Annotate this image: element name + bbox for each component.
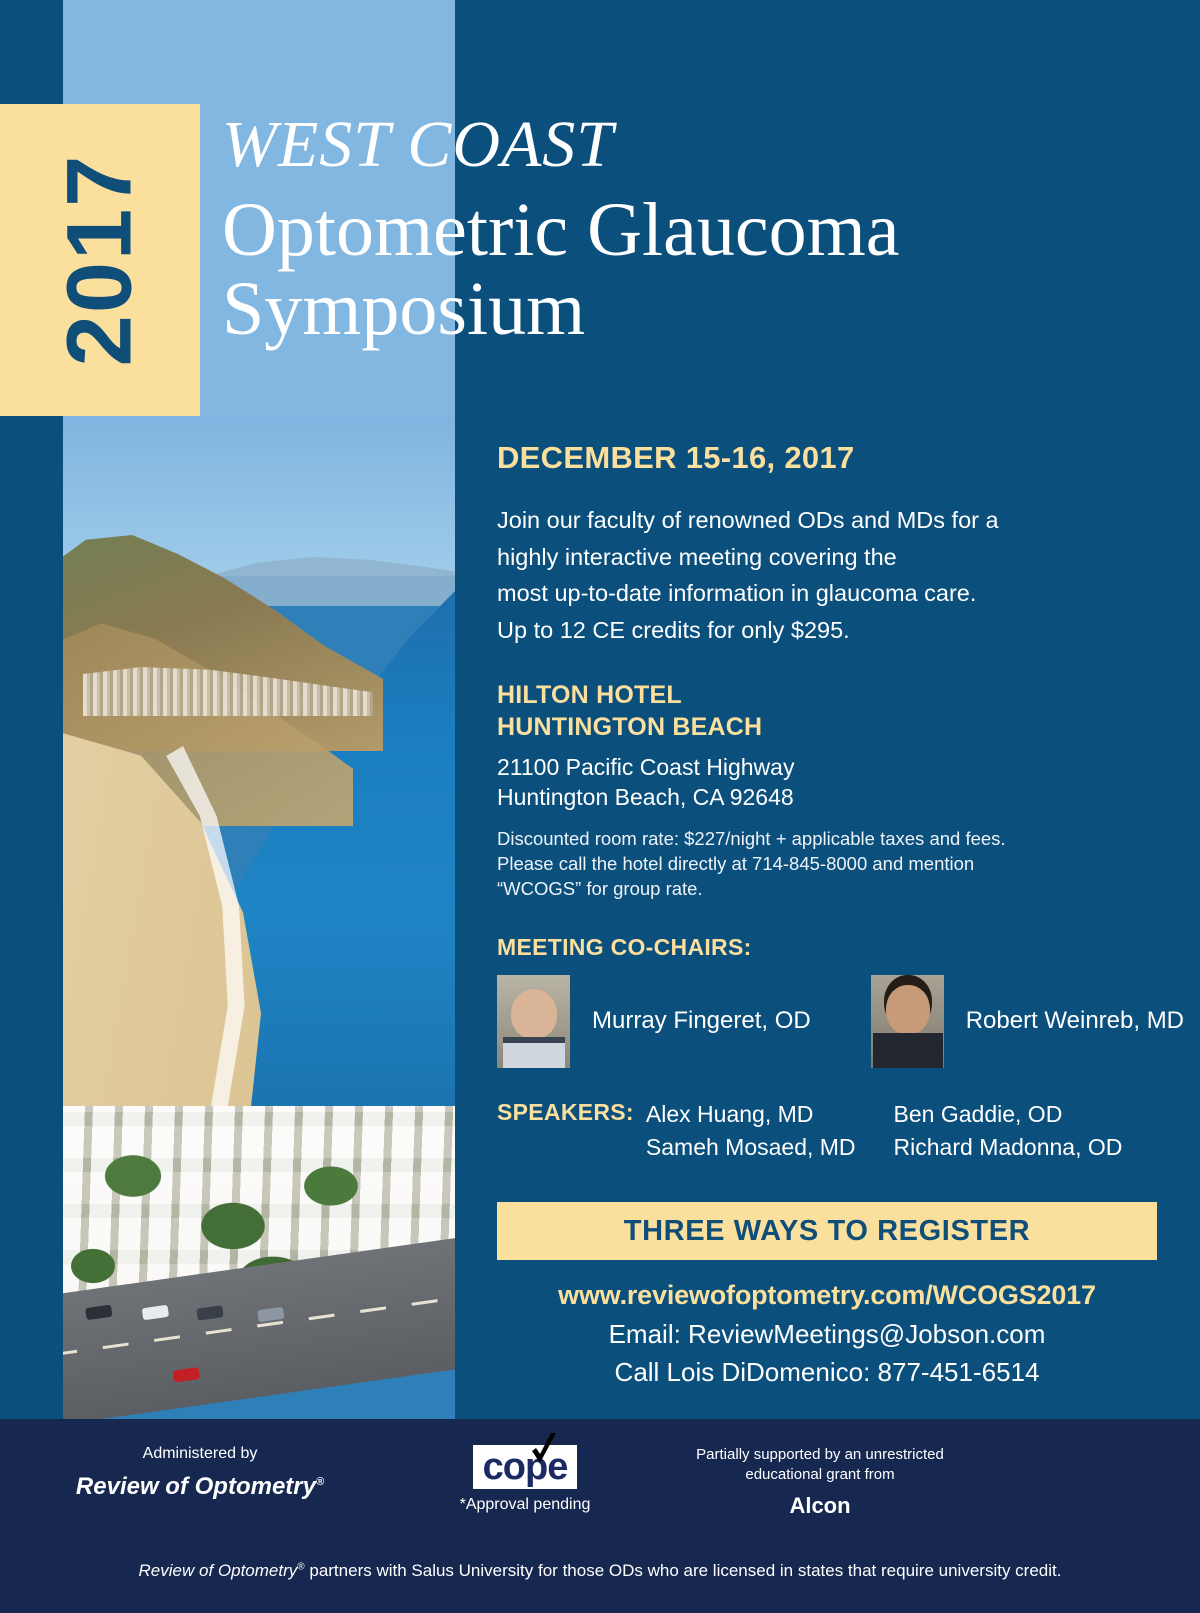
poster-title: WEST COAST Optometric Glaucoma Symposium: [222, 112, 1122, 355]
coastal-beach-photo: [63, 416, 455, 1419]
register-banner: THREE WAYS TO REGISTER: [497, 1202, 1157, 1260]
photo-car: [196, 1305, 223, 1321]
review-of-optometry-text: Review of Optometry: [76, 1473, 316, 1500]
description-line: most up-to-date information in glaucoma …: [497, 575, 1157, 612]
review-of-optometry-logo: Review of Optometry®: [0, 1473, 400, 1501]
venue-address: 21100 Pacific Coast Highway Huntington B…: [497, 752, 1157, 814]
venue-name: HILTON HOTEL HUNTINGTON BEACH: [497, 679, 1157, 743]
checkmark-icon: [529, 1433, 559, 1469]
disclaimer-brand: Review of Optometry: [139, 1561, 298, 1580]
speakers-label: SPEAKERS:: [497, 1098, 634, 1126]
cope-approval-pending: *Approval pending: [400, 1496, 650, 1514]
year-badge: 2017: [0, 104, 200, 416]
speakers-columns: Alex Huang, MD Sameh Mosaed, MD Ben Gadd…: [646, 1098, 1122, 1165]
speakers-column-2: Ben Gaddie, OD Richard Madonna, OD: [894, 1098, 1123, 1165]
register-url[interactable]: www.reviewofoptometry.com/WCOGS2017: [497, 1280, 1157, 1311]
cochair-item: Murray Fingeret, OD: [497, 975, 811, 1068]
year-text: 2017: [48, 154, 153, 367]
grant-line-2: educational grant from: [650, 1465, 990, 1485]
details-column: DECEMBER 15-16, 2017 Join our faculty of…: [497, 440, 1157, 1388]
cochair-name: Robert Weinreb, MD: [966, 1007, 1184, 1035]
speaker-name: Ben Gaddie, OD: [894, 1098, 1123, 1131]
poster-root: 2017 WEST COAST Optometric Glaucoma Symp…: [0, 0, 1200, 1613]
speaker-name: Sameh Mosaed, MD: [646, 1131, 856, 1164]
event-date: DECEMBER 15-16, 2017: [497, 440, 1157, 476]
speakers-column-1: Alex Huang, MD Sameh Mosaed, MD: [646, 1098, 856, 1165]
grant-line-1: Partially supported by an unrestricted: [650, 1445, 990, 1465]
speakers-block: SPEAKERS: Alex Huang, MD Sameh Mosaed, M…: [497, 1098, 1157, 1165]
photo-car: [142, 1305, 169, 1321]
cope-logo: cope ®: [473, 1445, 578, 1489]
speaker-name: Richard Madonna, OD: [894, 1131, 1123, 1164]
footer-disclaimer: Review of Optometry® partners with Salus…: [0, 1561, 1200, 1581]
register-banner-label: THREE WAYS TO REGISTER: [624, 1215, 1030, 1248]
administered-by-block: Administered by Review of Optometry®: [0, 1445, 400, 1501]
footer-logos-row: Administered by Review of Optometry® cop…: [0, 1445, 1200, 1519]
cochair-item: Robert Weinreb, MD: [871, 975, 1184, 1068]
venue-name-line2: HUNTINGTON BEACH: [497, 711, 1157, 743]
cope-logo-block: cope ® *Approval pending: [400, 1445, 650, 1514]
photo-car: [85, 1305, 112, 1321]
avatar: [871, 975, 944, 1068]
venue-note-line2: Please call the hotel directly at 714-84…: [497, 852, 1157, 877]
photo-car: [173, 1367, 200, 1383]
cochairs-list: Murray Fingeret, OD Robert Weinreb, MD: [497, 975, 1157, 1068]
disclaimer-registered-mark: ®: [297, 1561, 304, 1572]
cope-registered-mark: ®: [579, 1447, 587, 1459]
venue-note-line1: Discounted room rate: $227/night + appli…: [497, 827, 1157, 852]
title-west-coast: WEST COAST: [222, 112, 1122, 178]
administered-by-label: Administered by: [0, 1445, 400, 1463]
registered-mark: ®: [316, 1476, 324, 1488]
description-line: highly interactive meeting covering the: [497, 539, 1157, 576]
poster-footer: Administered by Review of Optometry® cop…: [0, 1419, 1200, 1613]
avatar: [497, 975, 570, 1068]
description-line: Join our faculty of renowned ODs and MDs…: [497, 502, 1157, 539]
speaker-name: Alex Huang, MD: [646, 1098, 856, 1131]
event-description: Join our faculty of renowned ODs and MDs…: [497, 502, 1157, 649]
photo-car: [257, 1307, 284, 1323]
cochair-name: Murray Fingeret, OD: [592, 1007, 811, 1035]
cochairs-label: MEETING CO-CHAIRS:: [497, 934, 1157, 961]
venue-name-line1: HILTON HOTEL: [497, 679, 1157, 711]
description-line: Up to 12 CE credits for only $295.: [497, 612, 1157, 649]
register-email[interactable]: Email: ReviewMeetings@Jobson.com: [497, 1319, 1157, 1350]
venue-rate-note: Discounted room rate: $227/night + appli…: [497, 827, 1157, 901]
venue-note-line3: “WCOGS” for group rate.: [497, 877, 1157, 902]
register-phone[interactable]: Call Lois DiDomenico: 877-451-6514: [497, 1357, 1157, 1388]
alcon-logo: Alcon: [650, 1493, 990, 1519]
venue-block: HILTON HOTEL HUNTINGTON BEACH 21100 Paci…: [497, 679, 1157, 902]
venue-address-line2: Huntington Beach, CA 92648: [497, 782, 1157, 813]
grant-block: Partially supported by an unrestricted e…: [650, 1445, 990, 1519]
venue-address-line1: 21100 Pacific Coast Highway: [497, 752, 1157, 783]
disclaimer-text: partners with Salus University for those…: [305, 1561, 1062, 1580]
